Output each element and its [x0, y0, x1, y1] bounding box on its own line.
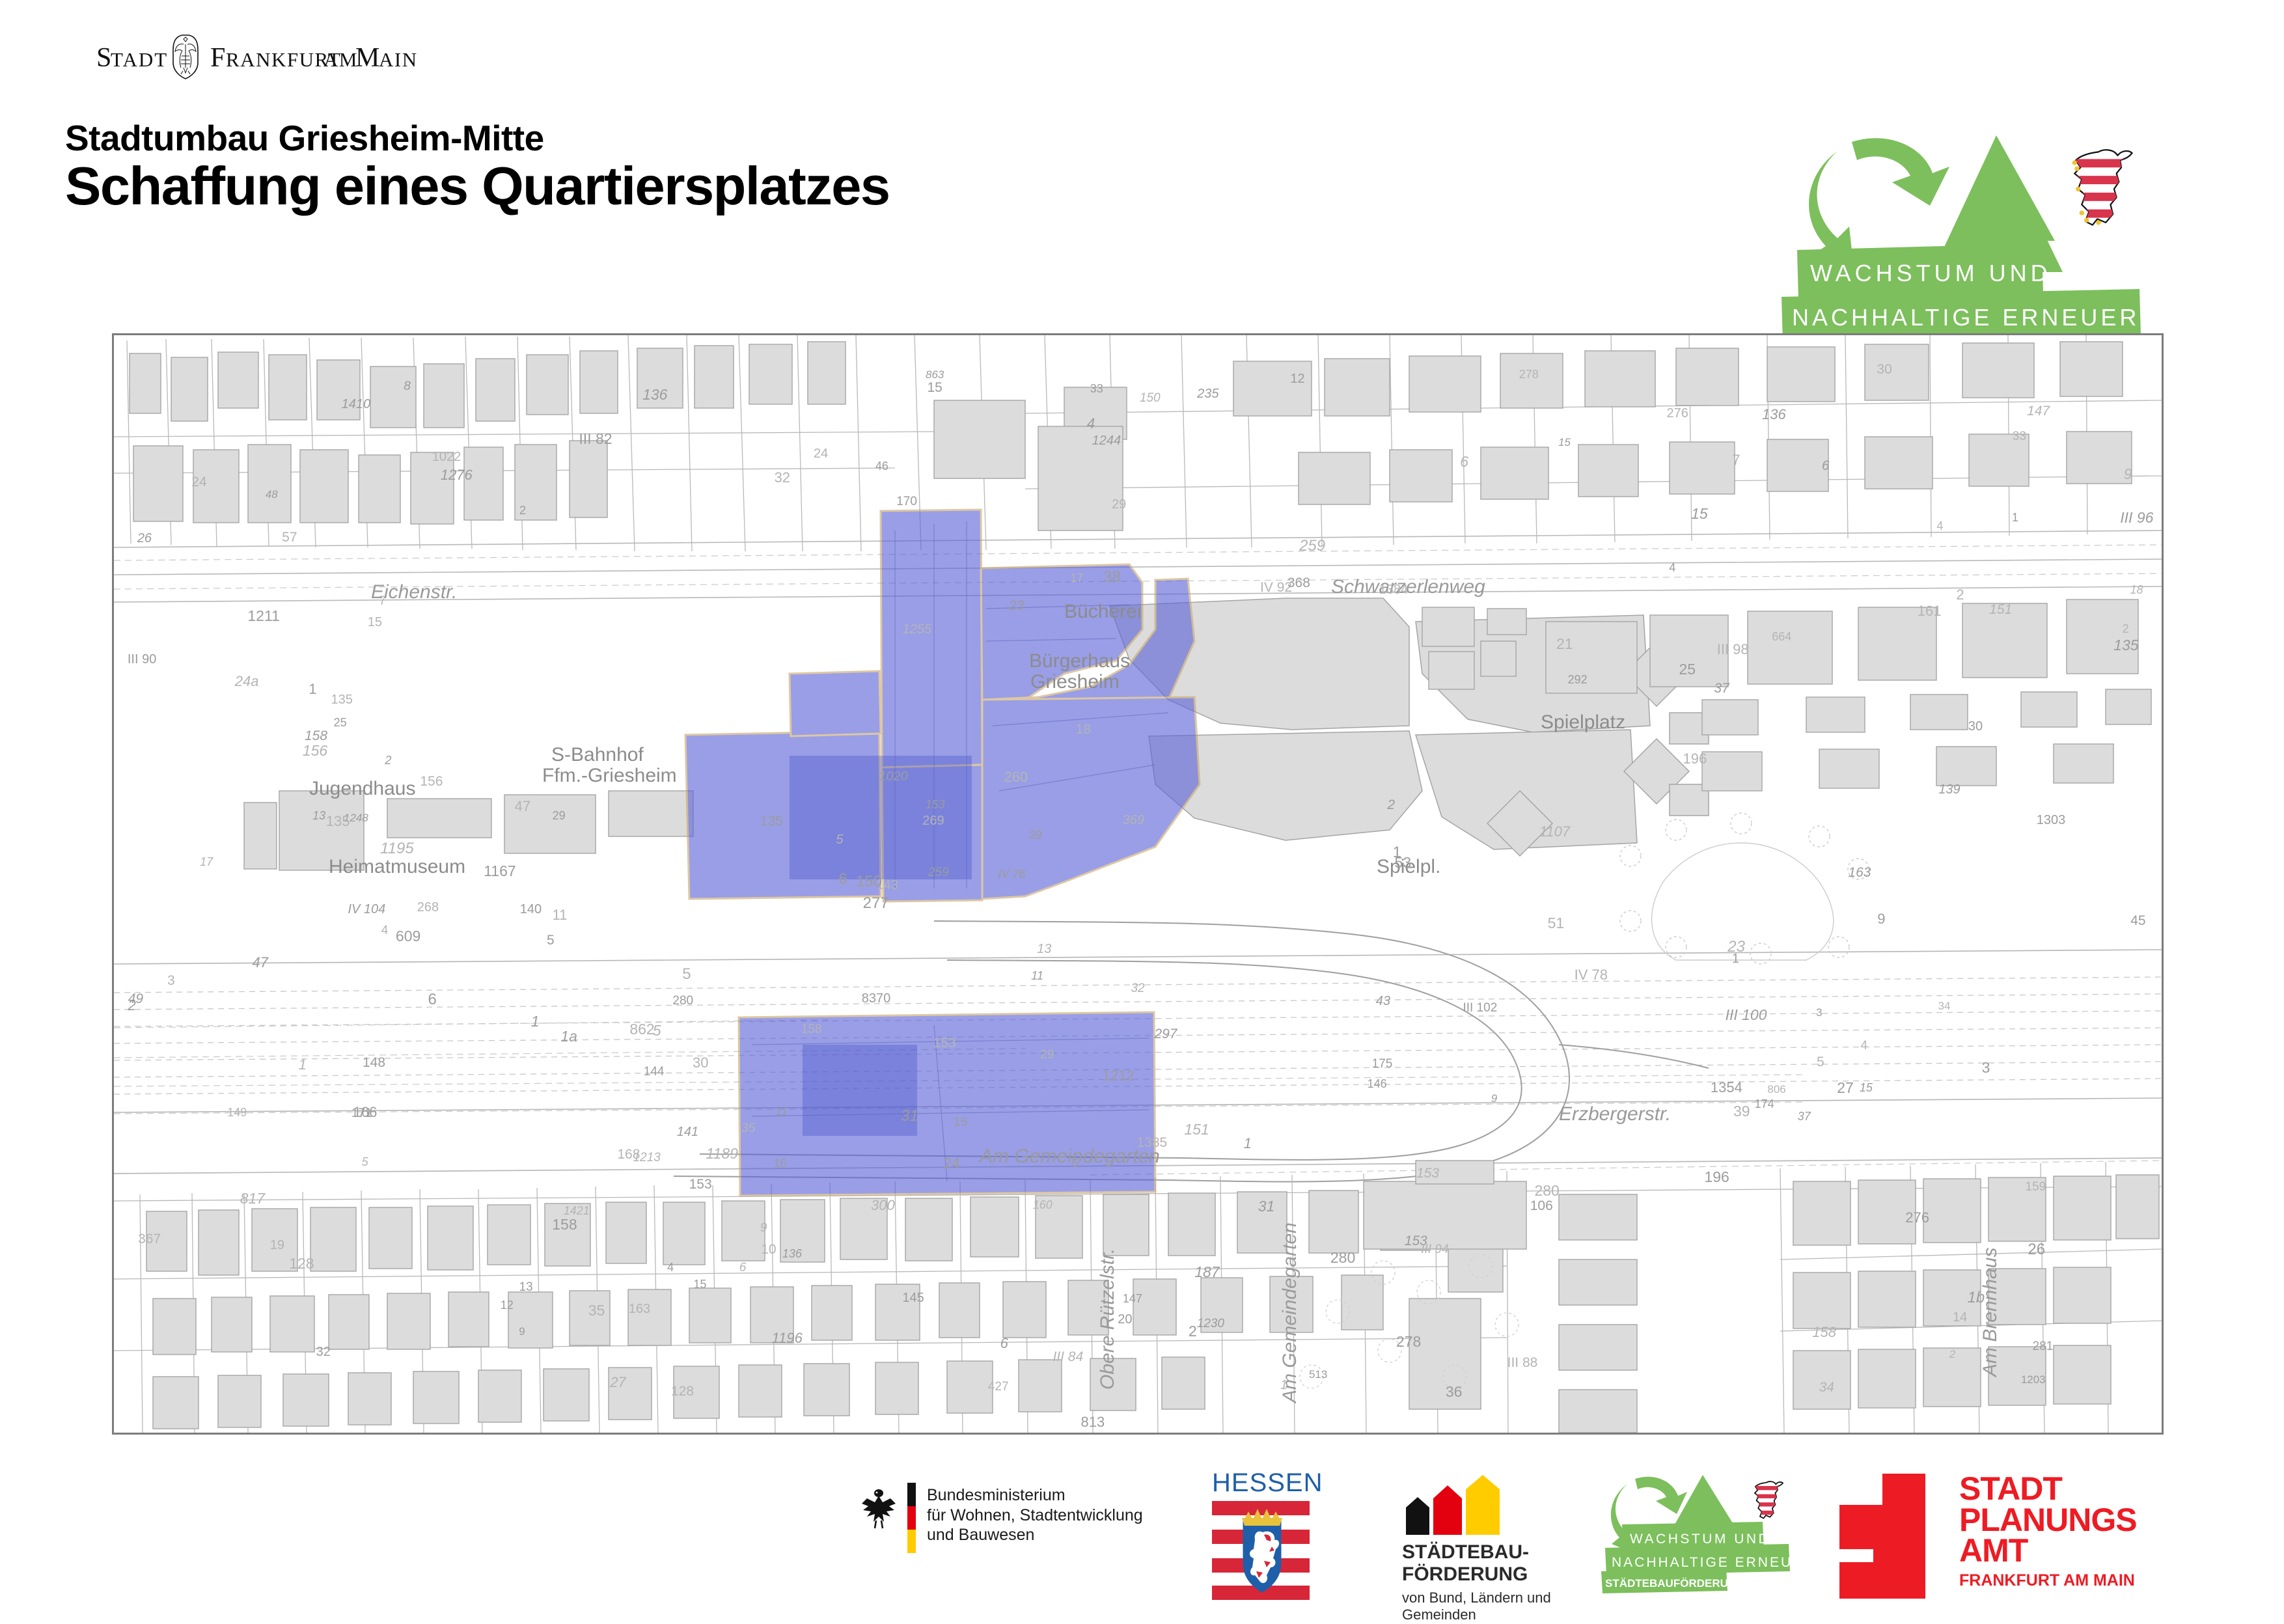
parcel-number: 367: [138, 1232, 161, 1247]
parcel-number: 30: [1877, 362, 1892, 378]
parcel-number: 35: [588, 1302, 605, 1319]
parcel-number: 1276: [441, 467, 473, 484]
parcel-number: 2: [519, 504, 526, 517]
parcel-number: 128: [289, 1255, 314, 1273]
parcel-number: 6: [1822, 458, 1830, 474]
svg-text:AIN: AIN: [379, 48, 418, 71]
parcel-number: 276: [1667, 406, 1688, 421]
parcel-number: 277: [863, 894, 889, 913]
sbf-line2: FÖRDERUNG: [1402, 1563, 1529, 1586]
poi-heimatmuseum: Heimatmuseum: [329, 856, 465, 878]
parcel-number: 1195: [380, 840, 414, 858]
parcel-number: 24: [943, 1155, 960, 1172]
sbf-line4: Gemeinden: [1402, 1606, 1551, 1623]
parcel-number: 37: [1798, 1110, 1811, 1123]
hessen-lion-icon: [2072, 150, 2138, 225]
parcel-number: 1: [1244, 1135, 1252, 1152]
map-panel[interactable]: Eichenstr. Schwarzerlenweg Am Gemeindega…: [112, 333, 2164, 1435]
parcel-number: 128: [671, 1384, 694, 1399]
logo-hessen: HESSEN: [1205, 1468, 1316, 1599]
parcel-number: 12: [501, 1299, 514, 1312]
parcel-number: 158: [552, 1216, 577, 1233]
parcel-number: III 94: [1421, 1243, 1448, 1257]
parcel-number: 25: [334, 716, 347, 730]
street-label-am-brennhaus: Am Brennhaus: [1979, 1248, 2002, 1377]
parcel-number: 292: [1568, 673, 1588, 687]
parcel-number: 278: [1519, 368, 1539, 381]
parcel-number: IV 104: [348, 902, 385, 917]
growth-line2: NACHHALTIGE ERNEUERUNG: [1792, 304, 2198, 331]
parcel-number: 24a: [235, 673, 259, 690]
street-label-erzbergerstr: Erzbergerstr.: [1559, 1103, 1671, 1125]
parcel-number: 1410: [342, 397, 371, 412]
parcel-number: 32: [775, 469, 790, 486]
parcel-number: 33: [1090, 382, 1103, 396]
parcel-number: 32: [316, 1345, 331, 1360]
parcel-number: 9: [2124, 465, 2132, 483]
growth-small-line3: STÄDTEBAUFÖRDERUNG HESSEN: [1605, 1577, 1793, 1590]
parcel-number: 1213: [633, 1151, 661, 1165]
parcel-number: 30: [1968, 719, 1983, 734]
parcel-number: 10: [761, 1242, 776, 1258]
parcel-number: 24: [814, 447, 828, 461]
parcel-number: 1354: [1711, 1079, 1742, 1096]
parcel-number: 150: [856, 873, 882, 891]
parcel-number: 15: [927, 380, 942, 396]
parcel-number: 5: [653, 1022, 661, 1039]
parcel-number: 48: [266, 488, 278, 501]
parcel-number: 6: [1000, 1335, 1008, 1352]
parcel-number: 9: [760, 1221, 767, 1235]
parcel-number: IV 76: [998, 868, 1025, 881]
sbf-line3: von Bund, Ländern und: [1402, 1590, 1551, 1606]
parcel-number: 1: [299, 1056, 307, 1073]
parcel-number: 149: [227, 1106, 247, 1120]
bmwsb-line2: für Wohnen, Stadtentwicklung: [927, 1506, 1143, 1526]
parcel-number: 14: [1953, 1310, 1967, 1325]
hessen-crest-icon: [1207, 1498, 1317, 1603]
parcel-number: 49: [128, 991, 143, 1007]
parcel-number: 136: [642, 386, 667, 404]
parcel-number: 1384: [1379, 583, 1409, 598]
parcel-number: 259: [928, 866, 949, 880]
parcel-number: 806: [1767, 1083, 1785, 1096]
parcel-number: 47: [252, 954, 268, 971]
parcel-number: 196: [1683, 750, 1707, 767]
parcel-number: 280: [672, 994, 693, 1008]
parcel-number: 151: [1184, 1121, 1209, 1138]
parcel-number: 1255: [903, 622, 932, 637]
parcel-number: 30: [693, 1054, 708, 1071]
parcel-number: 3: [1982, 1059, 1990, 1077]
parcel-number: 260: [1004, 769, 1028, 786]
parcel-number: 159: [2026, 1180, 2046, 1194]
parcel-number: 34: [1938, 1000, 1951, 1013]
parcel-number: 9: [1877, 911, 1885, 928]
parcel-number: 135: [331, 693, 352, 708]
growth-small-banner-3: STÄDTEBAUFÖRDERUNG HESSEN: [1601, 1569, 1793, 1593]
parcel-number: 150: [1140, 391, 1161, 406]
parcel-number: 39: [1733, 1103, 1750, 1120]
parcel-number: 2: [1189, 1323, 1197, 1340]
parcel-number: 29: [1040, 1048, 1054, 1062]
parcel-number: III 84: [1053, 1349, 1083, 1365]
parcel-number: 153: [1416, 1166, 1439, 1181]
growth-banner-1: WACHSTUM UND: [1797, 243, 2052, 299]
parcel-number: 106: [1530, 1198, 1553, 1214]
parcel-number: 5: [547, 933, 555, 948]
street-label-schwarzerlenweg: Schwarzerlenweg: [1331, 576, 1485, 598]
svg-text:F: F: [210, 43, 225, 73]
parcel-number: 863: [926, 368, 944, 381]
parcel-number: III 88: [1507, 1355, 1538, 1371]
city-logo: S TADT F RANKFURT AM M AIN: [96, 33, 513, 78]
bmwsb-line1: Bundesministerium: [927, 1485, 1143, 1506]
parcel-number: 15: [1558, 436, 1571, 449]
parcel-number: 1212: [1103, 1067, 1135, 1084]
street-label-am-gemeindegarten-2: Am Gemeindegarten: [1279, 1222, 1301, 1403]
footer-logos: Bundesministerium für Wohnen, Stadtentwi…: [0, 1465, 2284, 1614]
parcel-number: 8370: [862, 991, 891, 1006]
parcel-number: 2: [385, 754, 391, 767]
parcel-number: 175: [1372, 1057, 1393, 1071]
parcel-number: 4: [381, 924, 389, 938]
stadtplanungsamt-mark-icon: [1826, 1474, 1936, 1599]
parcel-number: 368: [1287, 575, 1310, 591]
parcel-number: 1: [2012, 511, 2018, 525]
parcel-number: 13: [1037, 942, 1051, 957]
parcel-number: 15: [1860, 1081, 1873, 1095]
parcel-number: 135: [760, 814, 783, 829]
parcel-number: 6: [1072, 1157, 1079, 1170]
parcel-number: 156: [420, 774, 443, 790]
parcel-number: 24: [191, 475, 206, 490]
parcel-number: 161: [1918, 603, 1942, 620]
parcel-number: 153: [926, 798, 945, 812]
sbf-line1: STÄDTEBAU-: [1402, 1541, 1529, 1563]
parcel-number: 280: [1330, 1249, 1355, 1267]
parcel-number: 4: [1936, 519, 1943, 533]
parcel-number: 13: [312, 809, 325, 823]
parcel-number: 163: [1848, 865, 1871, 881]
svg-text:AM: AM: [323, 48, 358, 71]
parcel-number: 13: [519, 1280, 533, 1295]
svg-text:S: S: [96, 43, 112, 73]
parcel-number: 36: [1446, 1383, 1463, 1401]
parcel-number: 160: [1033, 1198, 1053, 1212]
parcel-number: 369: [1123, 813, 1144, 828]
parcel-number: 32: [1131, 982, 1144, 996]
parcel-number: 1: [1732, 952, 1739, 967]
poi-buergerhaus: Bürgerhaus: [1029, 650, 1130, 672]
parcel-number: 136: [782, 1247, 802, 1261]
parcel-number: 148: [363, 1055, 385, 1071]
poi-griesheim: Griesheim: [1030, 671, 1120, 693]
parcel-number: 2: [1949, 1348, 1955, 1361]
parcel-number: 151: [1989, 602, 2012, 618]
parcel-number: 158: [1812, 1324, 1836, 1341]
parcel-number: 1167: [484, 862, 516, 880]
parcel-number: III 82: [579, 430, 612, 448]
parcel-number: 609: [396, 928, 420, 945]
parcel-number: 300: [871, 1197, 895, 1214]
parcel-number: 43: [1376, 994, 1390, 1009]
parcel-number: 1022: [432, 450, 461, 465]
parcel-number: 171: [351, 1107, 372, 1121]
frankfurt-eagle-crest-icon: S TADT F RANKFURT AM M AIN: [96, 33, 513, 79]
parcel-number: 153: [689, 1177, 712, 1192]
parcel-number: 35: [741, 1122, 755, 1136]
parcel-number: 4: [1669, 561, 1675, 575]
parcel-number: 34: [1819, 1380, 1834, 1396]
parcel-number: III 90: [128, 652, 156, 667]
parcel-number: 45: [2130, 913, 2145, 929]
parcel-number: 19: [270, 1238, 284, 1253]
parcel-number: 15: [368, 615, 382, 630]
parcel-number: 38: [1103, 568, 1121, 586]
parcel-number: 269: [922, 814, 944, 829]
parcel-number: 1211: [247, 607, 279, 625]
parcel-number: 817: [240, 1190, 265, 1207]
parcel-number: 6: [1460, 453, 1468, 471]
parcel-number: 15: [693, 1278, 706, 1291]
parcel-number: IV 78: [1575, 967, 1608, 984]
parcel-number: 25: [1679, 661, 1696, 678]
bundesadler-icon: [859, 1487, 898, 1535]
parcel-number: 1244: [1092, 434, 1121, 448]
poi-jugendhaus: Jugendhaus: [309, 778, 415, 800]
parcel-number: 29: [1112, 497, 1126, 512]
parcel-number: 26: [2028, 1241, 2045, 1259]
parcel-number: 1: [309, 681, 316, 698]
parcel-number: 21: [1556, 635, 1573, 653]
parcel-number: 11: [776, 1105, 788, 1118]
street-label-obere-ruetzelstr: Obere Rützelstr.: [1097, 1248, 1119, 1390]
parcel-number: 31: [901, 1107, 918, 1125]
parcel-number: 1189: [706, 1145, 738, 1163]
poi-ffm-griesheim: Ffm.-Griesheim: [542, 765, 677, 787]
poi-buecherei: Bücherei: [1064, 601, 1141, 623]
parcel-number: 163: [629, 1302, 650, 1317]
spa-line3: AMT: [1959, 1535, 2137, 1567]
parcel-number: 235: [1197, 387, 1218, 402]
parcel-number: 147: [1123, 1292, 1142, 1306]
parcel-number: 11: [552, 907, 567, 924]
parcel-number: 8: [404, 379, 411, 394]
parcel-number: 140: [520, 902, 542, 917]
parcel-number: 1: [531, 1013, 540, 1030]
parcel-number: 1385: [1137, 1135, 1168, 1151]
parcel-number: 18: [1076, 722, 1091, 737]
growth-small-line1: WACHSTUM UND: [1630, 1532, 1770, 1547]
parcel-number: 664: [1772, 630, 1791, 644]
growth-line1: WACHSTUM UND: [1810, 260, 2052, 286]
growth-small-line2: NACHHALTIGE ERNEUERUNG: [1612, 1555, 1813, 1570]
svg-text:TADT: TADT: [111, 48, 168, 71]
street-label-am-gemeindegarten: Am Gemeindegarten: [980, 1146, 1160, 1168]
parcel-number: 47: [515, 798, 530, 815]
parcel-number: 39: [1028, 829, 1041, 842]
logo-growth-small: WACHSTUM UND NACHHALTIGE ERNEUERUNG STÄD…: [1599, 1468, 1813, 1605]
hessen-word: HESSEN: [1212, 1468, 1323, 1498]
parcel-number: 187: [1194, 1263, 1219, 1281]
parcel-number: 18: [2130, 583, 2143, 597]
parcel-number: 813: [1081, 1414, 1105, 1431]
parcel-number: 26: [137, 531, 152, 546]
parcel-number: 2: [1387, 797, 1395, 813]
parcel-number: 135: [326, 813, 350, 830]
parcel-number: 280: [1534, 1182, 1559, 1200]
parcel-number: 145: [902, 1291, 924, 1306]
parcel-number: 11: [1031, 969, 1043, 983]
poi-s-bahnhof: S-Bahnhof: [551, 744, 644, 766]
parcel-number: 4: [1087, 415, 1095, 432]
parcel-number: 15: [1691, 505, 1708, 523]
parcel-number: 9: [519, 1325, 525, 1338]
svg-text:M: M: [355, 43, 379, 73]
parcel-number: 1: [1280, 1378, 1287, 1393]
parcel-number: 259: [1299, 537, 1325, 555]
parcel-number: 7: [1732, 452, 1740, 469]
parcel-number: 158: [801, 1023, 822, 1037]
parcel-number: 2: [2123, 622, 2129, 636]
parcel-number: 20: [1118, 1312, 1132, 1327]
parcel-number: 15: [954, 1116, 967, 1130]
parcel-number: 23: [1009, 598, 1024, 614]
parcel-number: 139: [1938, 782, 1960, 797]
parcel-number: 57: [282, 530, 297, 545]
cadastral-map[interactable]: [114, 335, 2162, 1433]
parcel-number: 1020: [879, 769, 908, 784]
parcel-number: 147: [2027, 404, 2050, 419]
parcel-number: 427: [988, 1380, 1009, 1394]
parcel-number: 6: [428, 991, 436, 1009]
parcel-number: 17: [1070, 571, 1083, 585]
parcel-number: 5: [362, 1155, 368, 1169]
parcel-number: 5: [836, 833, 843, 847]
bmwsb-line3: und Bauwesen: [927, 1525, 1143, 1545]
parcel-number: III 96: [2120, 509, 2153, 527]
parcel-number: 156: [303, 742, 327, 760]
parcel-number: 3: [167, 973, 175, 989]
parcel-number: 1196: [772, 1330, 803, 1347]
hessen-lion-icon: [1754, 1481, 1786, 1518]
parcel-number: 7: [379, 594, 386, 609]
parcel-number: 513: [1309, 1368, 1327, 1381]
parcel-number: 27: [1837, 1079, 1854, 1097]
parcel-number: 1b: [1968, 1289, 1985, 1307]
parcel-number: 281: [2033, 1340, 2054, 1354]
parcel-number: 12: [1290, 372, 1304, 387]
parcel-number: 268: [417, 900, 439, 915]
parcel-number: 174: [1755, 1097, 1774, 1111]
spa-line4: FRANKFURT AM MAIN: [1959, 1573, 2137, 1589]
three-houses-icon: [1402, 1475, 1532, 1537]
parcel-number: 3: [1816, 1006, 1822, 1019]
parcel-number: 1230: [1197, 1317, 1224, 1331]
parcel-number: 276: [1905, 1209, 1929, 1226]
parcel-number: 31: [1258, 1198, 1275, 1215]
parcel-number: 1a: [560, 1028, 577, 1045]
parcel-number: 170: [896, 495, 917, 509]
parcel-number: 1203: [2021, 1373, 2046, 1386]
parcel-number: 51: [1548, 915, 1565, 932]
parcel-number: 2: [1956, 586, 1964, 603]
parcel-number: 4: [667, 1261, 674, 1274]
parcel-number: 146: [1368, 1077, 1387, 1091]
parcel-number: 29: [553, 809, 566, 823]
spa-line2: PLANUNGS: [1959, 1505, 2137, 1536]
parcel-number: 53: [1395, 854, 1412, 872]
parcel-number: 6: [838, 870, 847, 888]
parcel-number: 297: [1155, 1026, 1177, 1042]
parcel-number: 16: [774, 1157, 787, 1170]
parcel-number: 278: [1396, 1333, 1421, 1351]
parcel-number: 1107: [1539, 823, 1570, 840]
parcel-number: 46: [875, 460, 888, 473]
parcel-number: 862: [629, 1021, 654, 1038]
parcel-number: 5: [1817, 1054, 1824, 1070]
parcel-number: 27: [610, 1374, 626, 1391]
spa-line1: STADT: [1959, 1474, 2137, 1505]
page-title: Schaffung eines Quartiersplatzes: [65, 155, 890, 217]
parcel-number: 9: [1491, 1092, 1497, 1105]
poi-spielplatz: Spielplatz: [1541, 711, 1625, 734]
parcel-number: 1303: [2037, 813, 2066, 828]
subtitle: Stadtumbau Griesheim-Mitte: [65, 117, 544, 159]
parcel-number: 5: [682, 965, 691, 984]
parcel-number: III 100: [1726, 1006, 1767, 1024]
parcel-number: 17: [200, 855, 213, 869]
parcel-number: 153: [933, 1036, 956, 1051]
parcel-number: 135: [2113, 637, 2138, 654]
parcel-number: 141: [677, 1125, 698, 1140]
parcel-number: 33: [2013, 430, 2026, 444]
parcel-number: 144: [644, 1065, 665, 1079]
parcel-number: III 98: [1717, 641, 1749, 658]
parcel-number: 4: [1860, 1039, 1867, 1053]
parcel-number: 196: [1704, 1168, 1729, 1186]
parcel-number: 6: [739, 1261, 747, 1275]
parcel-number: 37: [1714, 681, 1729, 696]
parcel-number: 136: [1762, 406, 1786, 423]
parcel-number: III 102: [1463, 1001, 1497, 1015]
